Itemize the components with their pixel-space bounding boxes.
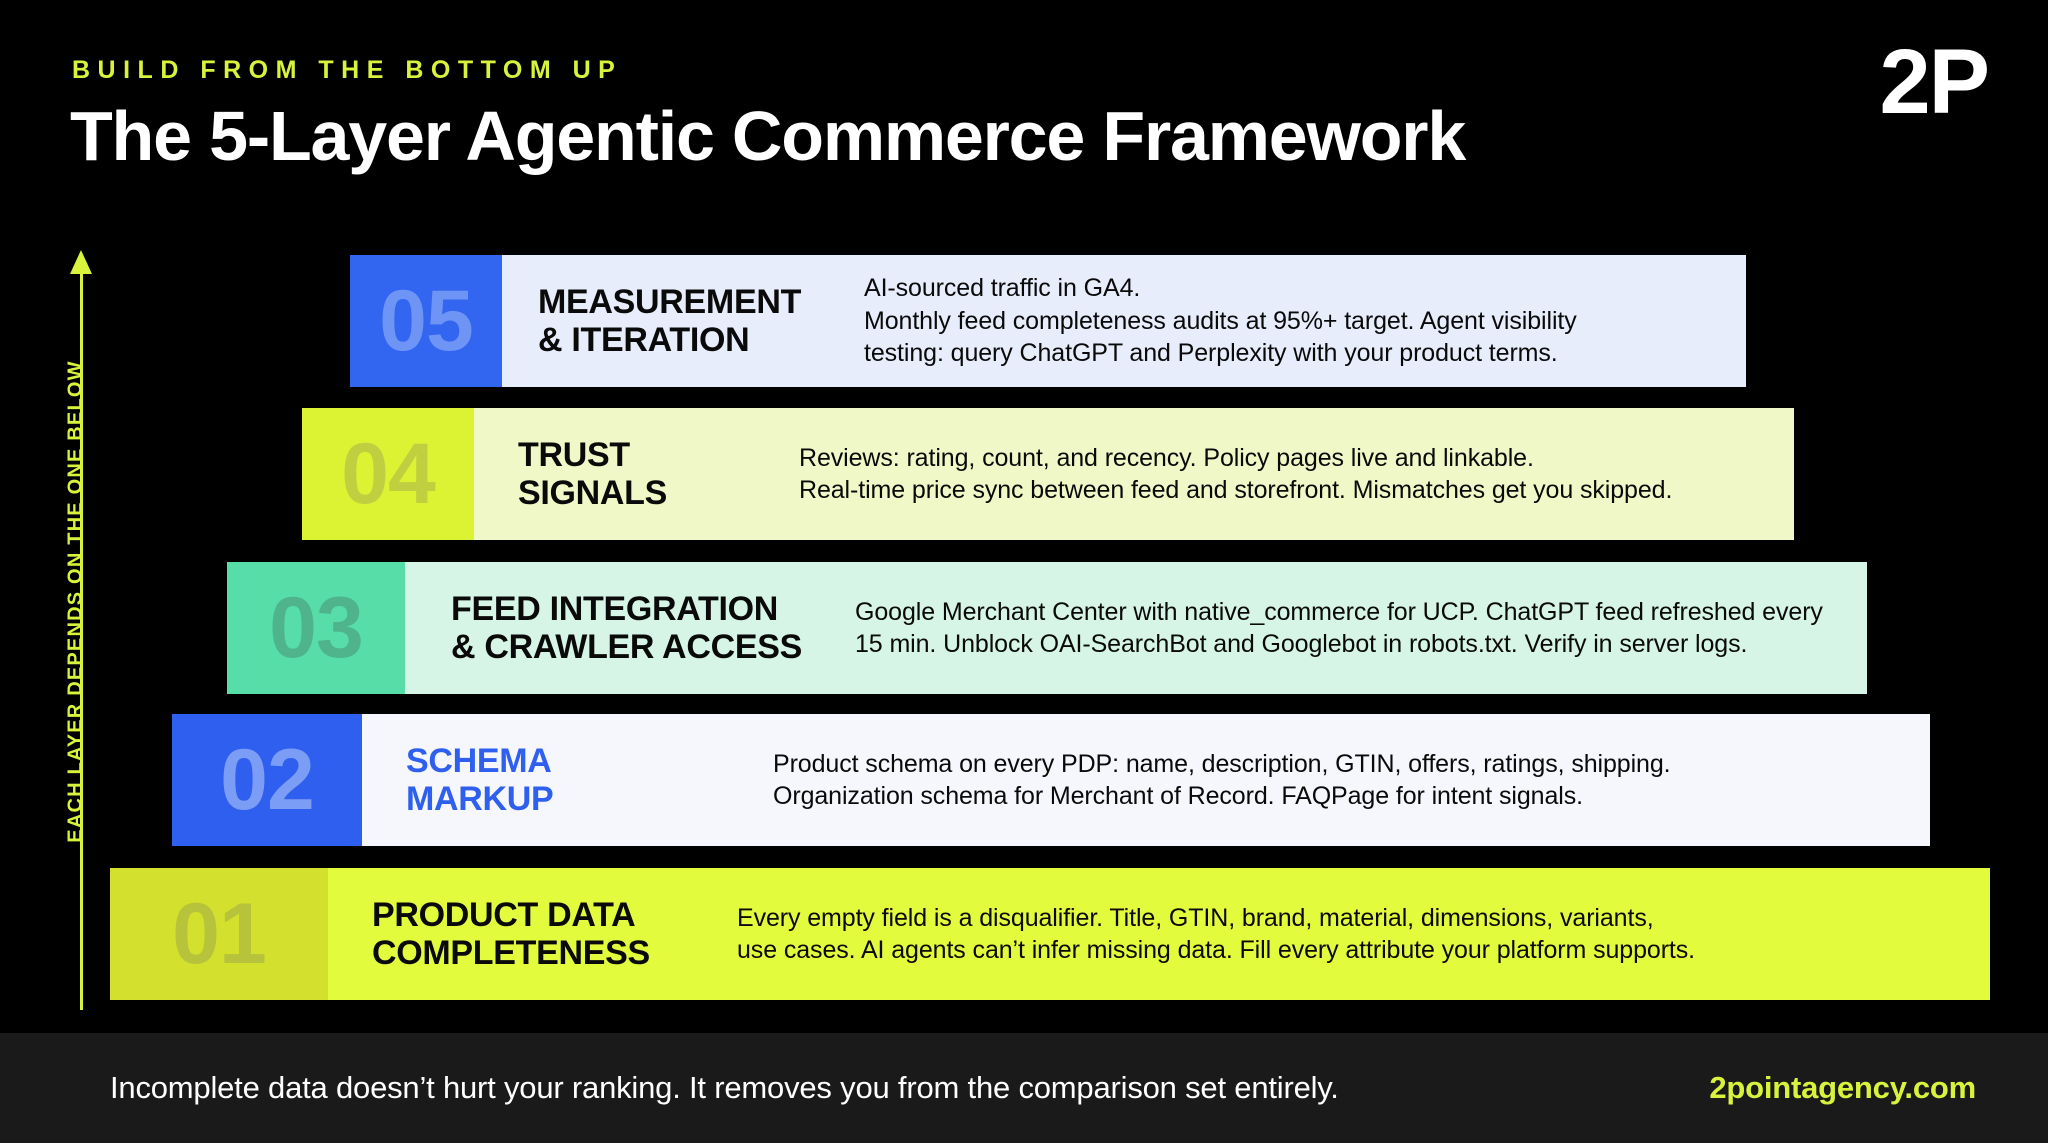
layer-title-03: FEED INTEGRATION & CRAWLER ACCESS: [451, 590, 841, 666]
eyebrow-text: BUILD FROM THE BOTTOM UP: [72, 56, 622, 85]
footer-bar: Incomplete data doesn’t hurt your rankin…: [0, 1033, 2048, 1143]
layer-description-05: AI-sourced traffic in GA4. Monthly feed …: [864, 272, 1577, 370]
infographic-canvas: BUILD FROM THE BOTTOM UP The 5-Layer Age…: [0, 0, 2048, 1143]
layer-title-05: MEASUREMENT & ITERATION: [538, 283, 838, 359]
layer-number-02: 02: [220, 737, 314, 823]
layer-number-badge-01: 01: [110, 868, 328, 1000]
layer-number-03: 03: [269, 585, 363, 671]
footer-website-link[interactable]: 2pointagency.com: [1709, 1070, 1976, 1106]
layer-row-01[interactable]: 01 PRODUCT DATA COMPLETENESS Every empty…: [110, 868, 1990, 1000]
layer-description-04: Reviews: rating, count, and recency. Pol…: [799, 442, 1672, 507]
layer-description-02: Product schema on every PDP: name, descr…: [773, 748, 1671, 813]
axis-label: EACH LAYER DEPENDS ON THE ONE BELOW: [65, 252, 88, 952]
layer-description-01: Every empty field is a disqualifier. Tit…: [737, 902, 1695, 967]
layer-title-04: TRUST SIGNALS: [518, 436, 783, 512]
layer-row-03[interactable]: 03 FEED INTEGRATION & CRAWLER ACCESS Goo…: [227, 562, 1867, 694]
layer-number-05: 05: [379, 278, 473, 364]
layer-number-badge-03: 03: [227, 562, 405, 694]
layer-body-04: TRUST SIGNALS Reviews: rating, count, an…: [474, 408, 1794, 540]
layer-row-04[interactable]: 04 TRUST SIGNALS Reviews: rating, count,…: [302, 408, 1794, 540]
brand-logo: 2P: [1879, 36, 1988, 128]
layer-number-badge-05: 05: [350, 255, 502, 387]
layer-body-05: MEASUREMENT & ITERATION AI-sourced traff…: [502, 255, 1746, 387]
layer-number-04: 04: [341, 431, 435, 517]
layer-description-03: Google Merchant Center with native_comme…: [855, 596, 1823, 661]
layer-number-badge-04: 04: [302, 408, 474, 540]
layer-number-badge-02: 02: [172, 714, 362, 846]
footer-message: Incomplete data doesn’t hurt your rankin…: [110, 1070, 1339, 1106]
layer-title-02: SCHEMA MARKUP: [406, 742, 761, 818]
dependency-axis: EACH LAYER DEPENDS ON THE ONE BELOW: [56, 250, 116, 1010]
layer-title-01: PRODUCT DATA COMPLETENESS: [372, 896, 727, 972]
layer-body-02: SCHEMA MARKUP Product schema on every PD…: [362, 714, 1930, 846]
layer-body-01: PRODUCT DATA COMPLETENESS Every empty fi…: [328, 868, 1990, 1000]
layer-row-02[interactable]: 02 SCHEMA MARKUP Product schema on every…: [172, 714, 1930, 846]
page-title: The 5-Layer Agentic Commerce Framework: [70, 96, 1465, 176]
layer-row-05[interactable]: 05 MEASUREMENT & ITERATION AI-sourced tr…: [350, 255, 1746, 387]
layer-body-03: FEED INTEGRATION & CRAWLER ACCESS Google…: [405, 562, 1867, 694]
layer-number-01: 01: [172, 891, 266, 977]
